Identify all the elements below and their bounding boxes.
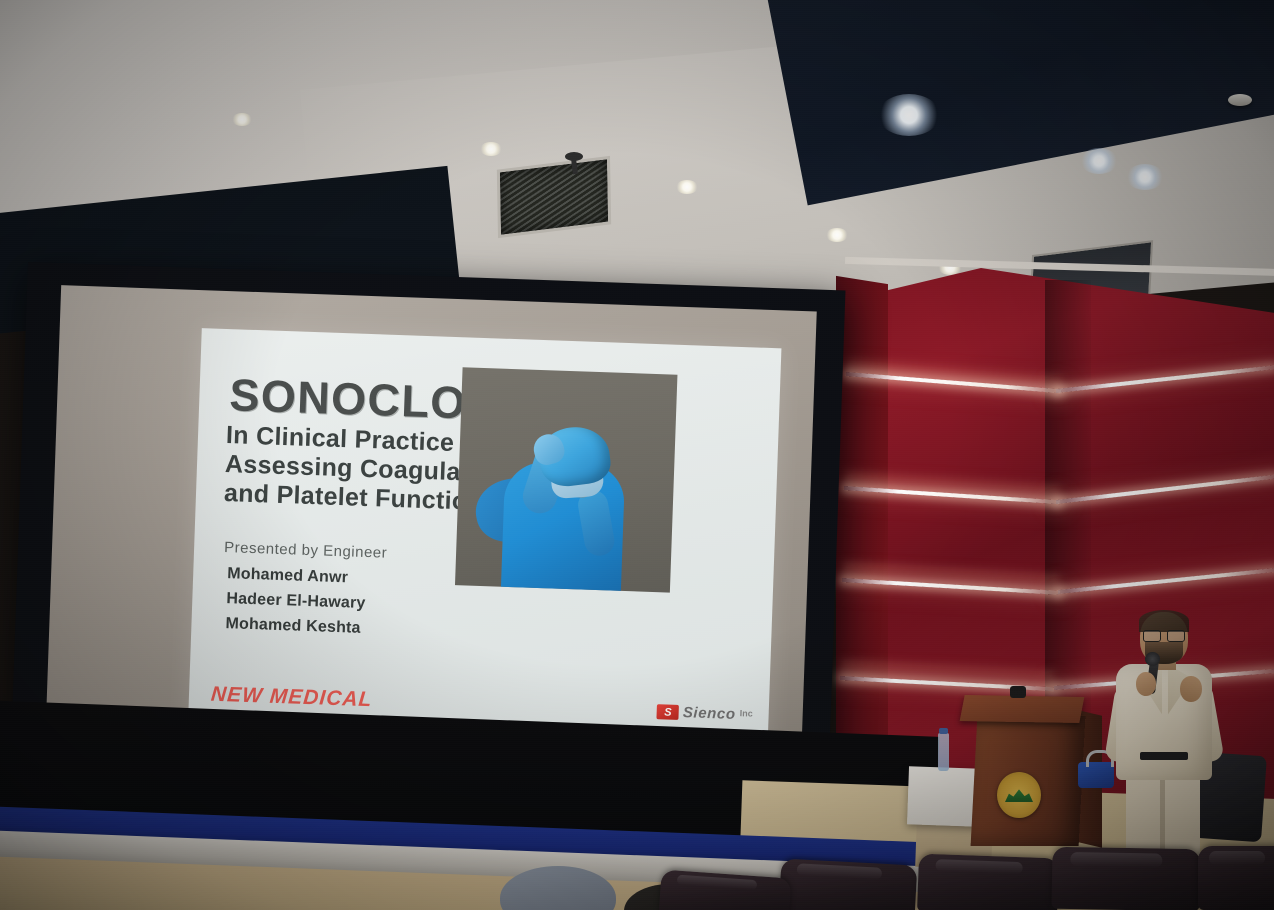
podium-lectern-top [960,695,1085,723]
institution-emblem-icon [997,772,1041,818]
audience-seat[interactable] [1051,847,1200,910]
slide-photo-surgeon [455,367,677,592]
speaker-hair [1139,610,1189,632]
ceiling-downlight-icon [232,113,252,126]
slide-presenter-name: Hadeer El-Hawary [226,590,366,613]
sienco-logo-name: Sienco [683,704,736,723]
presentation-slide: SONOCLOT In Clinical Practice Assessing … [188,328,782,746]
slide-presenter-name: Mohamed Anwr [227,565,348,587]
ceiling-spotlight-icon [1126,164,1164,190]
ceiling-downlight-icon [480,142,502,156]
sienco-logo: S Sienco Inc [657,703,753,723]
water-bottle [938,733,949,771]
microphone-head-icon [1145,652,1160,666]
ceiling-downlight-icon [676,180,698,194]
ceiling-spotlight-icon [878,94,940,136]
vent-knob [565,152,583,161]
slide-presenter-name: Mohamed Keshta [225,615,361,638]
audience-seat[interactable] [779,858,918,910]
ceiling-spotlight-icon [1080,148,1118,174]
new-medical-logo: NEW MEDICAL [210,683,373,713]
water-bottle-cap [939,728,948,734]
audience-seat[interactable] [1198,846,1274,910]
slide-presented-by-label: Presented by Engineer [224,539,388,562]
slide-title: SONOCLOT [229,369,497,430]
hvac-ceiling-vent-icon [497,156,611,238]
sienco-badge-icon: S [657,704,680,720]
speaker-hand-right [1180,676,1202,702]
speaker-hand-left [1136,672,1156,696]
smoke-detector-icon [1228,94,1252,106]
speaker-belt [1140,752,1188,760]
sienco-logo-suffix: Inc [739,708,752,718]
projection-screen-surface: SONOCLOT In Clinical Practice Assessing … [46,285,817,743]
projection-screen: SONOCLOT In Clinical Practice Assessing … [12,262,846,760]
audience-seat[interactable] [917,854,1059,910]
eyeglasses-icon [1143,630,1185,640]
ceiling-downlight-icon [826,228,848,242]
podium-microphone-icon [1010,686,1026,698]
auditorium-photo: SONOCLOT In Clinical Practice Assessing … [0,0,1274,910]
